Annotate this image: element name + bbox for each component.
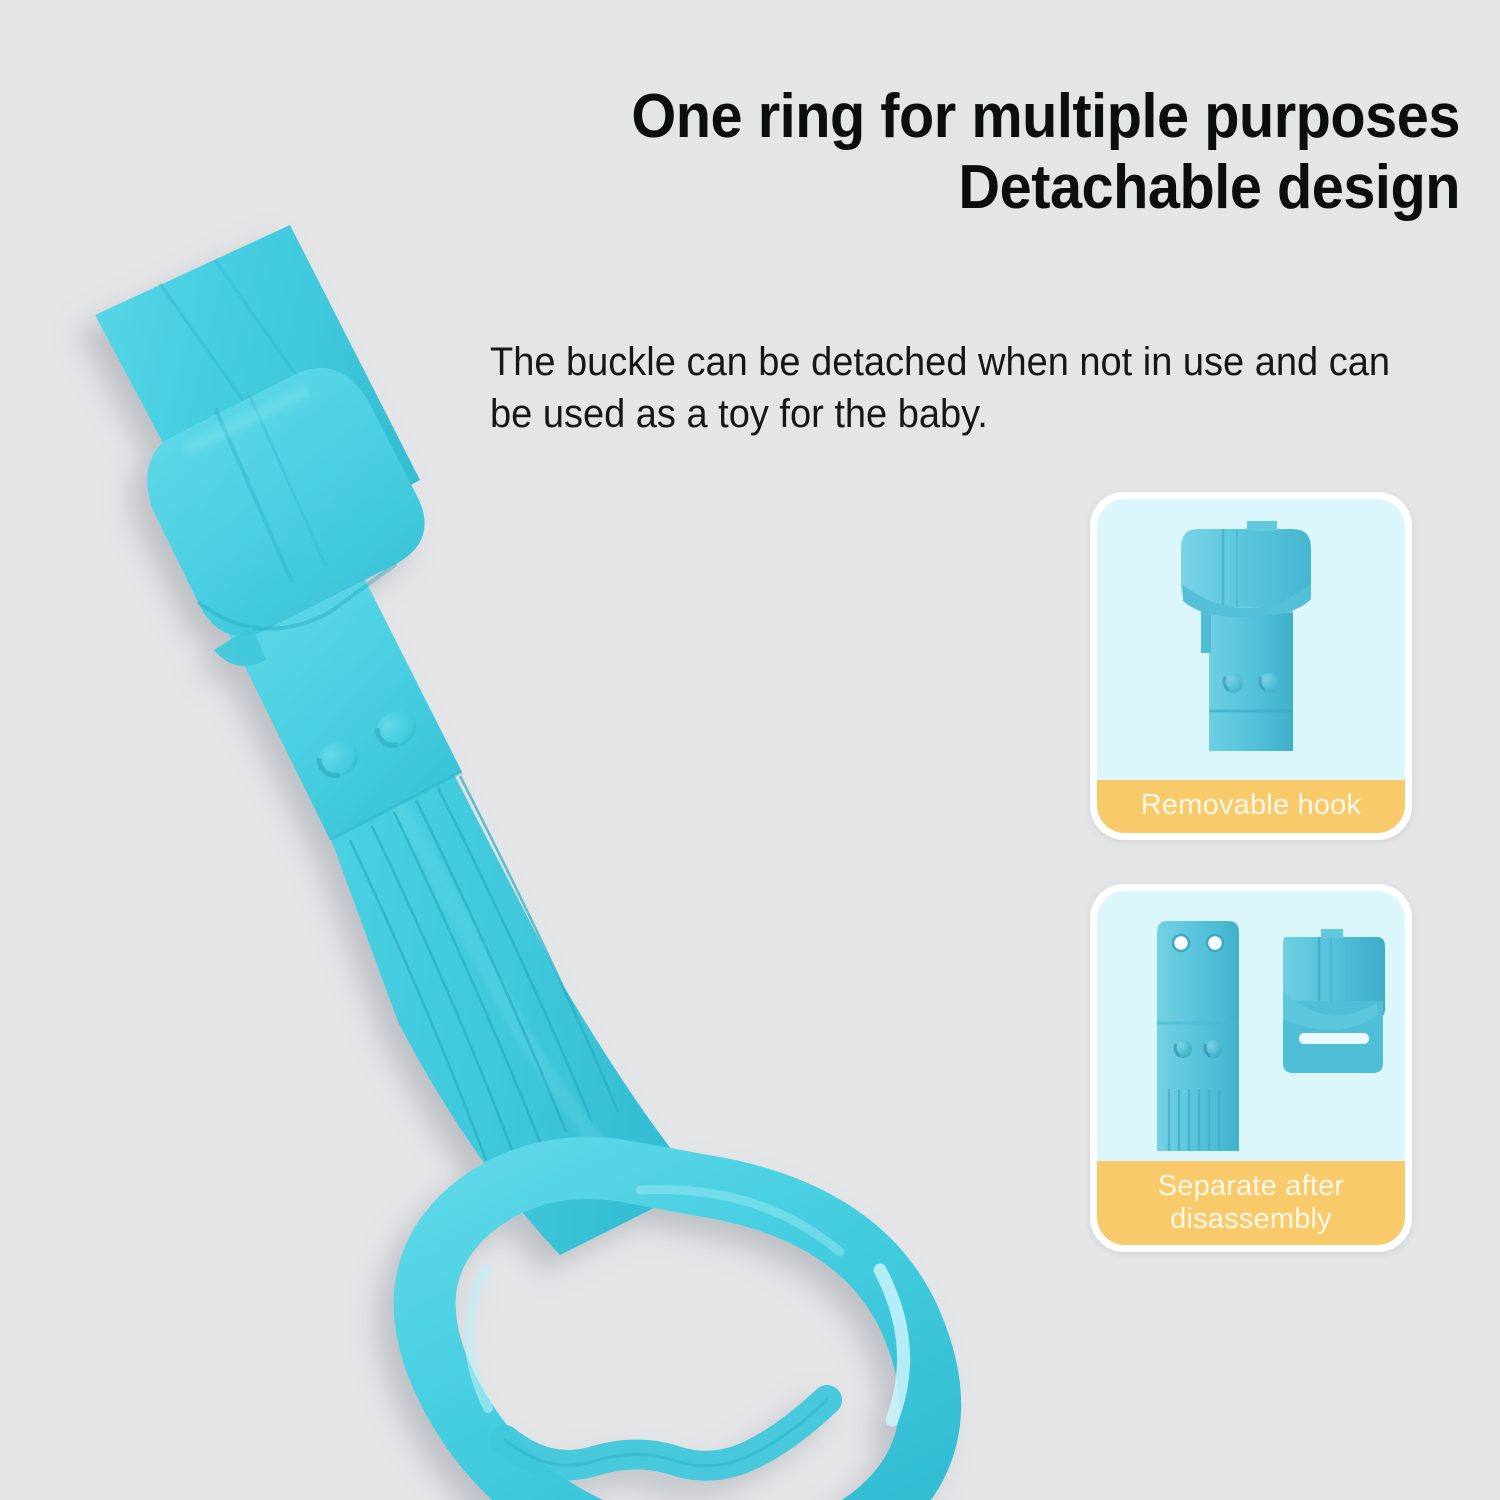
headline-line-1: One ring for multiple purposes	[502, 82, 1460, 153]
callout-card-removable-hook: Removable hook	[1090, 492, 1412, 840]
hero-product-image	[0, 150, 1060, 1500]
product-silhouette	[95, 225, 930, 1500]
card-1-caption: Removable hook	[1097, 780, 1405, 833]
callout-card-inner: Separate after disassembly	[1097, 891, 1405, 1245]
product-marketing-image: One ring for multiple purposes Detachabl…	[0, 0, 1500, 1500]
card-2-caption-line-1: Separate after	[1103, 1170, 1399, 1202]
callout-card-inner: Removable hook	[1097, 499, 1405, 833]
buckle-piece	[1283, 929, 1385, 1073]
card-1-caption-line-1: Removable hook	[1103, 789, 1399, 821]
card-2-caption: Separate after disassembly	[1097, 1161, 1405, 1245]
grip-ring-waves	[505, 1400, 827, 1466]
card-2-caption-line-2: disassembly	[1103, 1203, 1399, 1235]
callout-card-separate-after-disassembly: Separate after disassembly	[1090, 884, 1412, 1252]
strap-piece	[1157, 921, 1239, 1151]
